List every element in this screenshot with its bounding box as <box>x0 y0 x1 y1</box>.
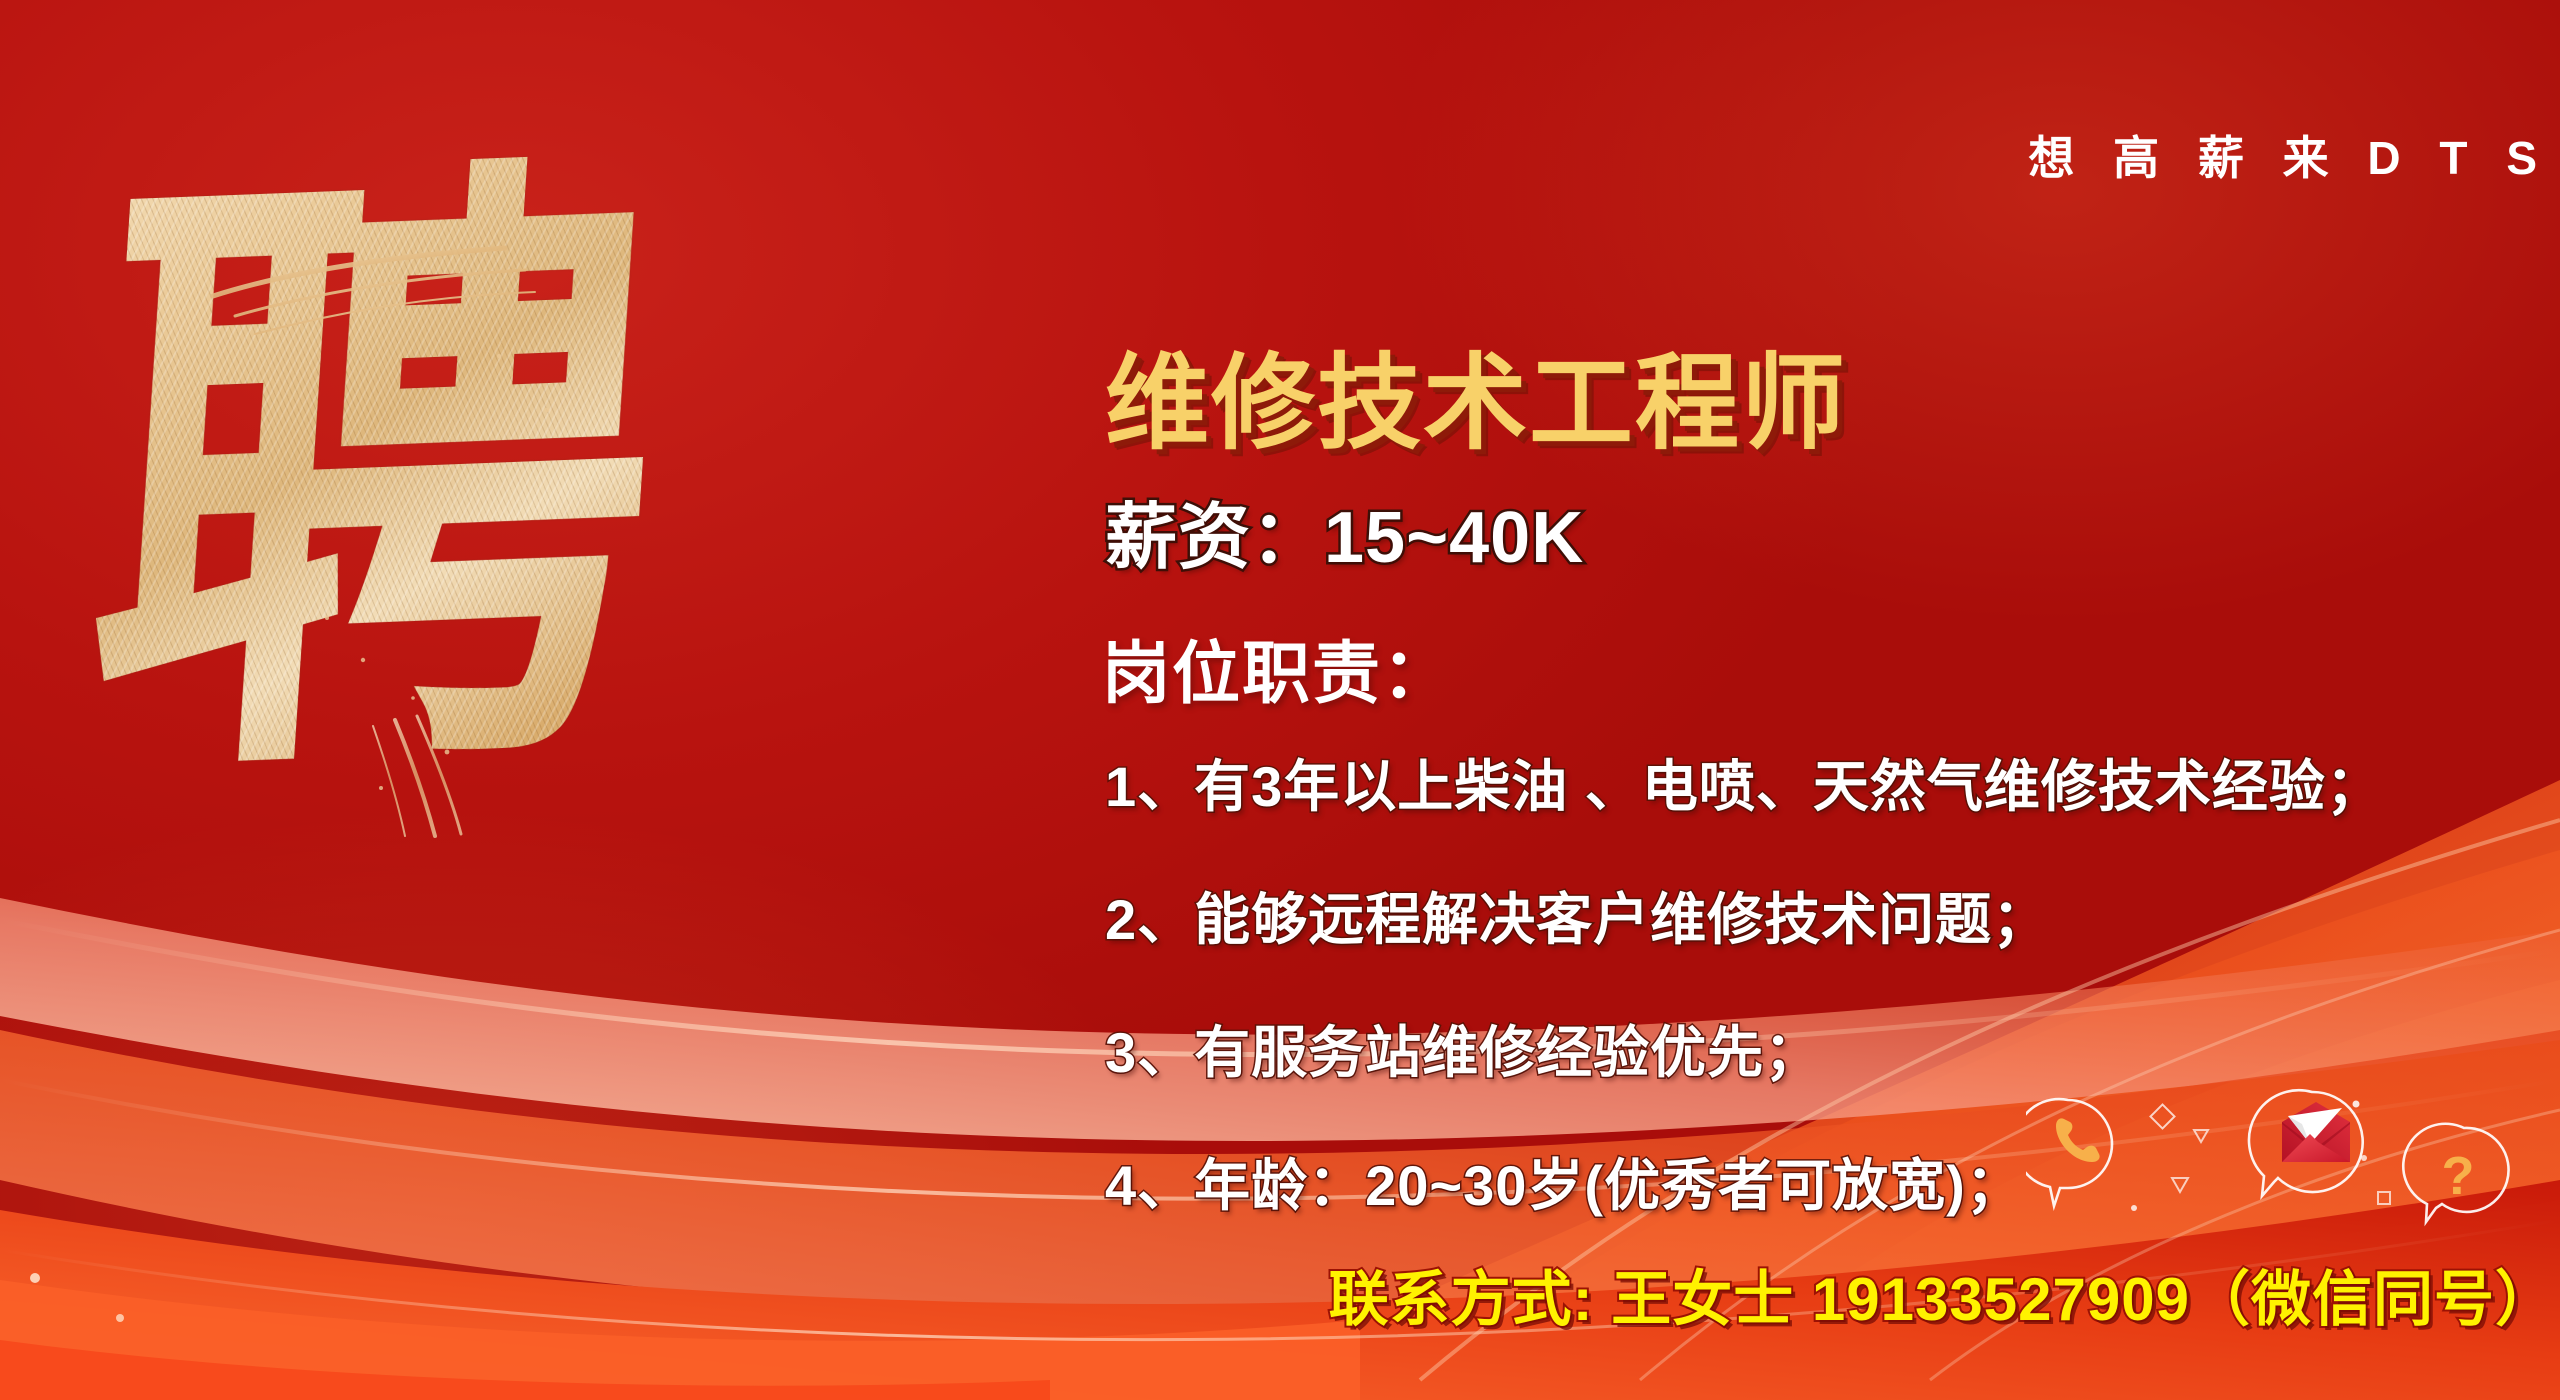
dot-shape <box>2131 1205 2137 1211</box>
phone-icon-group <box>2026 1099 2112 1206</box>
slogan-tagline: 想 高 薪 来 D T S <box>2028 122 2550 188</box>
list-item: 3、有服务站维修经验优先； <box>1105 1008 2555 1089</box>
duties-heading: 岗位职责： <box>1102 618 1452 717</box>
contact-info: 联系方式: 王女士 19133527909（微信同号） <box>1329 1251 2556 1338</box>
list-item: 2、能够远程解决客户维修技术问题； <box>1105 875 2555 956</box>
list-item: 1、有3年以上柴油 、电喷、天然气维修技术经验； <box>1105 742 2555 823</box>
contact-bubble-icons: ? <box>2026 1082 2546 1272</box>
salary-text: 薪资：15~40K <box>1105 478 1584 583</box>
recruitment-poster: 聘 <box>0 0 2560 1400</box>
triangle-shape <box>2172 1178 2188 1192</box>
svg-text:?: ? <box>2442 1146 2475 1206</box>
brush-character-glyph: 聘 <box>67 66 683 893</box>
square-shape <box>2378 1192 2390 1204</box>
page-title: 维修技术工程师 <box>1105 318 1847 469</box>
brush-calligraphy-character: 聘 <box>95 120 655 840</box>
dot-shape <box>2361 1155 2367 1161</box>
question-icon-group: ? <box>2403 1124 2508 1222</box>
triangle-shape <box>2194 1130 2208 1142</box>
envelope-icon-group <box>2249 1090 2363 1196</box>
diamond-shape <box>2150 1104 2174 1128</box>
